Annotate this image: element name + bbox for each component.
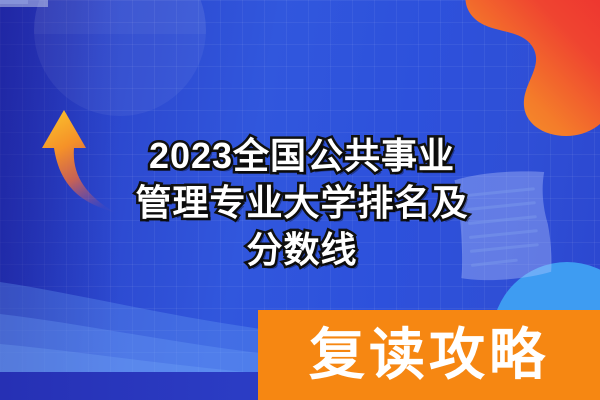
soft-circle-band bbox=[34, 0, 206, 34]
banner-label: 复读攻略 bbox=[309, 327, 549, 383]
top-accent-bar-inner bbox=[0, 0, 28, 4]
poster-canvas: 2023全国公共事业 管理专业大学排名及 分数线 复读攻略 bbox=[0, 0, 600, 400]
banner-badge[interactable]: 复读攻略 bbox=[258, 310, 600, 400]
page-title: 2023全国公共事业 管理专业大学排名及 分数线 bbox=[92, 132, 512, 273]
